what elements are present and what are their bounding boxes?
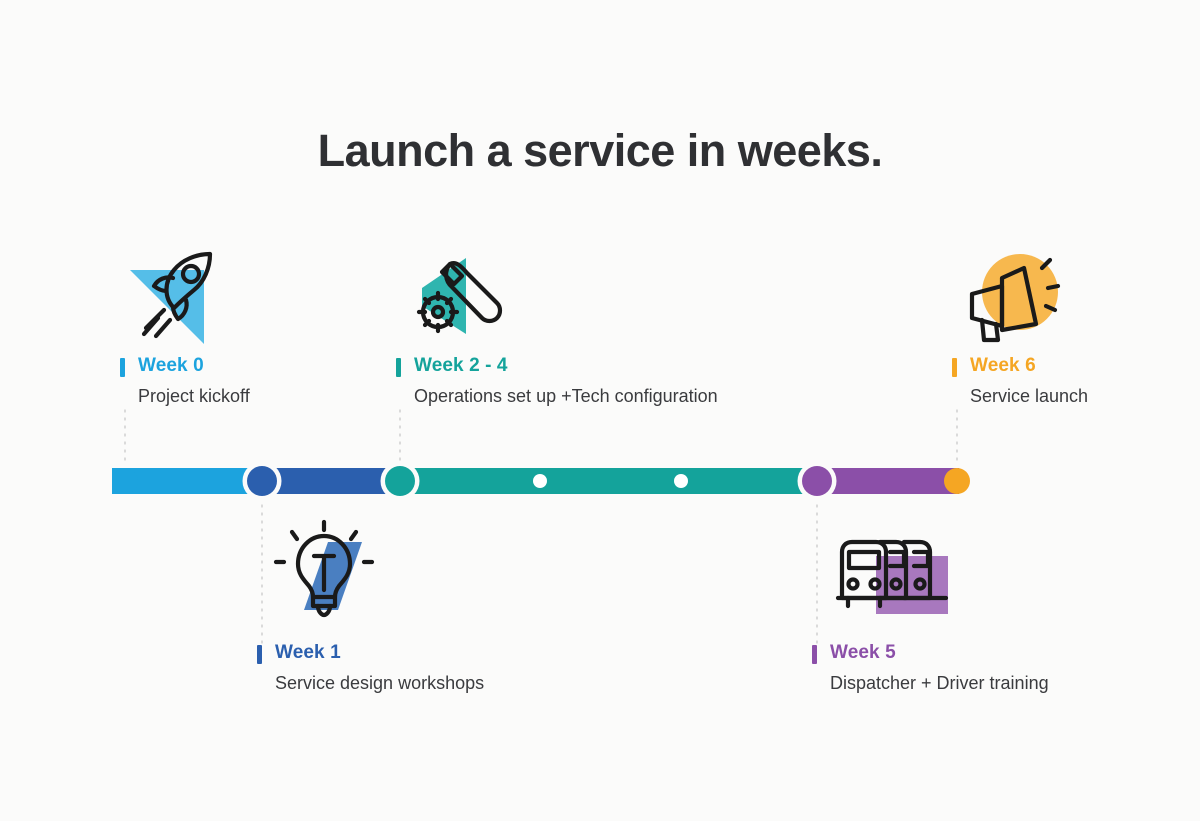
milestone-accent-bar-week2_4: [396, 358, 401, 377]
milestone-description-week5: Dispatcher + Driver training: [812, 672, 1049, 694]
segment-week2-4: [400, 468, 817, 494]
segment-week0: [112, 468, 262, 494]
milestone-week-label-week1: Week 1: [257, 642, 484, 664]
milestone-description-week1: Service design workshops: [257, 672, 484, 694]
rocket-icon: [124, 248, 234, 348]
page-title: Launch a service in weeks.: [0, 125, 1200, 177]
lightbulb-icon: [270, 520, 380, 620]
minor-dot-1: [533, 474, 547, 488]
milestone-week-label-week2_4: Week 2 - 4: [396, 355, 718, 377]
milestone-accent-bar-week5: [812, 645, 817, 664]
segment-week1: [262, 468, 400, 494]
wrench-gear-icon: [404, 248, 514, 348]
node-week2-4-ring: [381, 462, 420, 501]
milestone-description-week6: Service launch: [952, 385, 1088, 407]
node-week2-4[interactable]: [385, 466, 415, 496]
node-week0[interactable]: [112, 468, 138, 494]
infographic-canvas: Launch a service in weeks. Week 0Project…: [0, 0, 1200, 821]
milestone-description-week0: Project kickoff: [120, 385, 250, 407]
timeline-bar: [0, 0, 1200, 821]
milestone-week-label-week5: Week 5: [812, 642, 1049, 664]
timeline-minor-dots: [533, 474, 688, 488]
milestone-week-label-week0: Week 0: [120, 355, 250, 377]
timeline-segments: [112, 468, 959, 494]
node-week5[interactable]: [802, 466, 832, 496]
timeline-nodes: [112, 462, 970, 501]
milestone-week1[interactable]: Week 1Service design workshops: [257, 642, 484, 694]
node-week1-ring: [243, 462, 282, 501]
buses-icon: [828, 526, 958, 626]
milestone-accent-bar-week0: [120, 358, 125, 377]
milestone-week-label-week6: Week 6: [952, 355, 1088, 377]
segment-week5: [817, 468, 959, 494]
milestone-accent-bar-week6: [952, 358, 957, 377]
milestone-accent-bar-week1: [257, 645, 262, 664]
milestone-week2_4[interactable]: Week 2 - 4Operations set up +Tech config…: [396, 355, 718, 407]
node-week6[interactable]: [944, 468, 970, 494]
milestone-description-week2_4: Operations set up +Tech configuration: [396, 385, 718, 407]
milestone-week0[interactable]: Week 0Project kickoff: [120, 355, 250, 407]
node-week5-ring: [798, 462, 837, 501]
milestone-week6[interactable]: Week 6Service launch: [952, 355, 1088, 407]
minor-dot-2: [674, 474, 688, 488]
megaphone-icon: [958, 248, 1068, 348]
node-week1[interactable]: [247, 466, 277, 496]
milestone-week5[interactable]: Week 5Dispatcher + Driver training: [812, 642, 1049, 694]
